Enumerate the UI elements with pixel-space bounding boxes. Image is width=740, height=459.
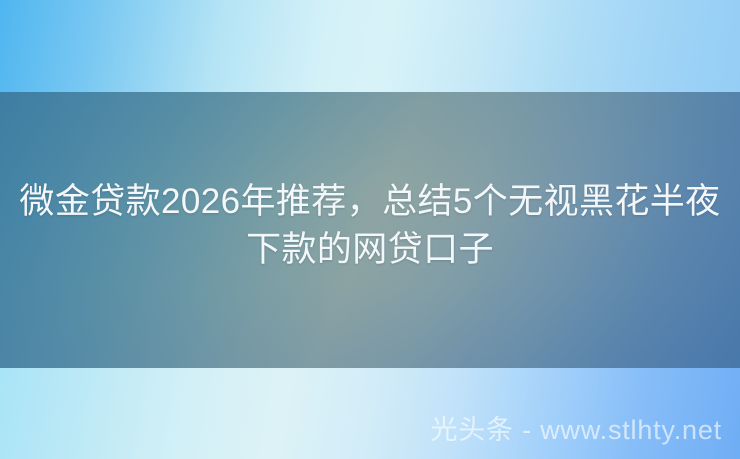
cover-title: 微金贷款2026年推荐，总结5个无视黑花半夜下款的网贷口子 [0, 178, 740, 274]
background-band-top [0, 0, 740, 92]
site-watermark: 光头条 - www.stlhty.net [430, 414, 722, 446]
cover-image-canvas: 微金贷款2026年推荐，总结5个无视黑花半夜下款的网贷口子 光头条 - www.… [0, 0, 740, 459]
